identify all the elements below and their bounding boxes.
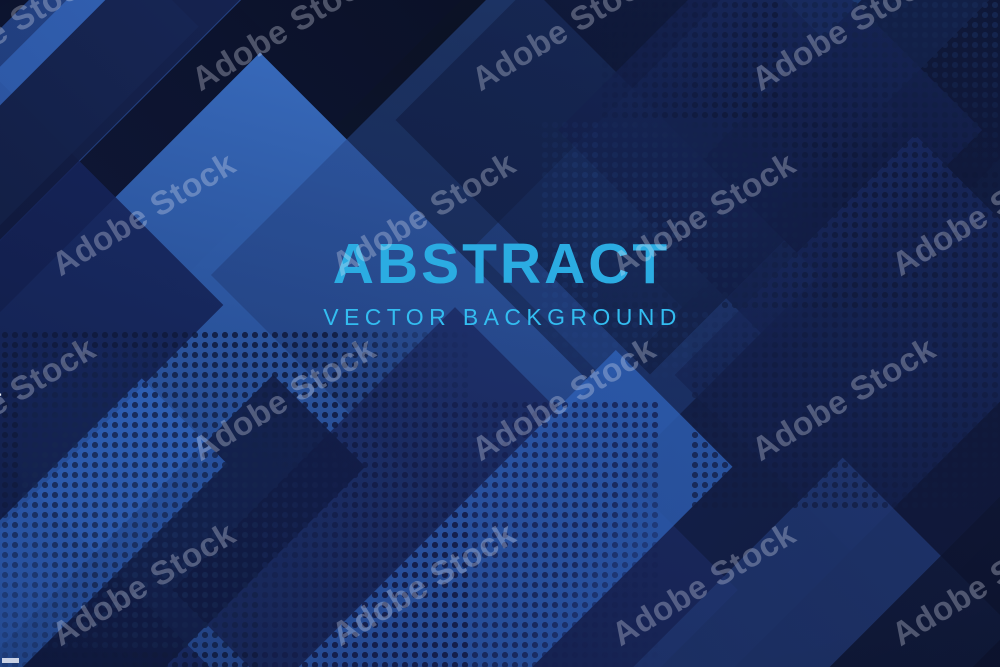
halftone-field-top-edge-right <box>780 0 1000 170</box>
artwork-canvas: ABSTRACT VECTOR BACKGROUND Adobe Stock A… <box>0 0 1000 667</box>
credit-bar <box>2 658 19 663</box>
halftone-field-left-bright <box>20 350 350 650</box>
